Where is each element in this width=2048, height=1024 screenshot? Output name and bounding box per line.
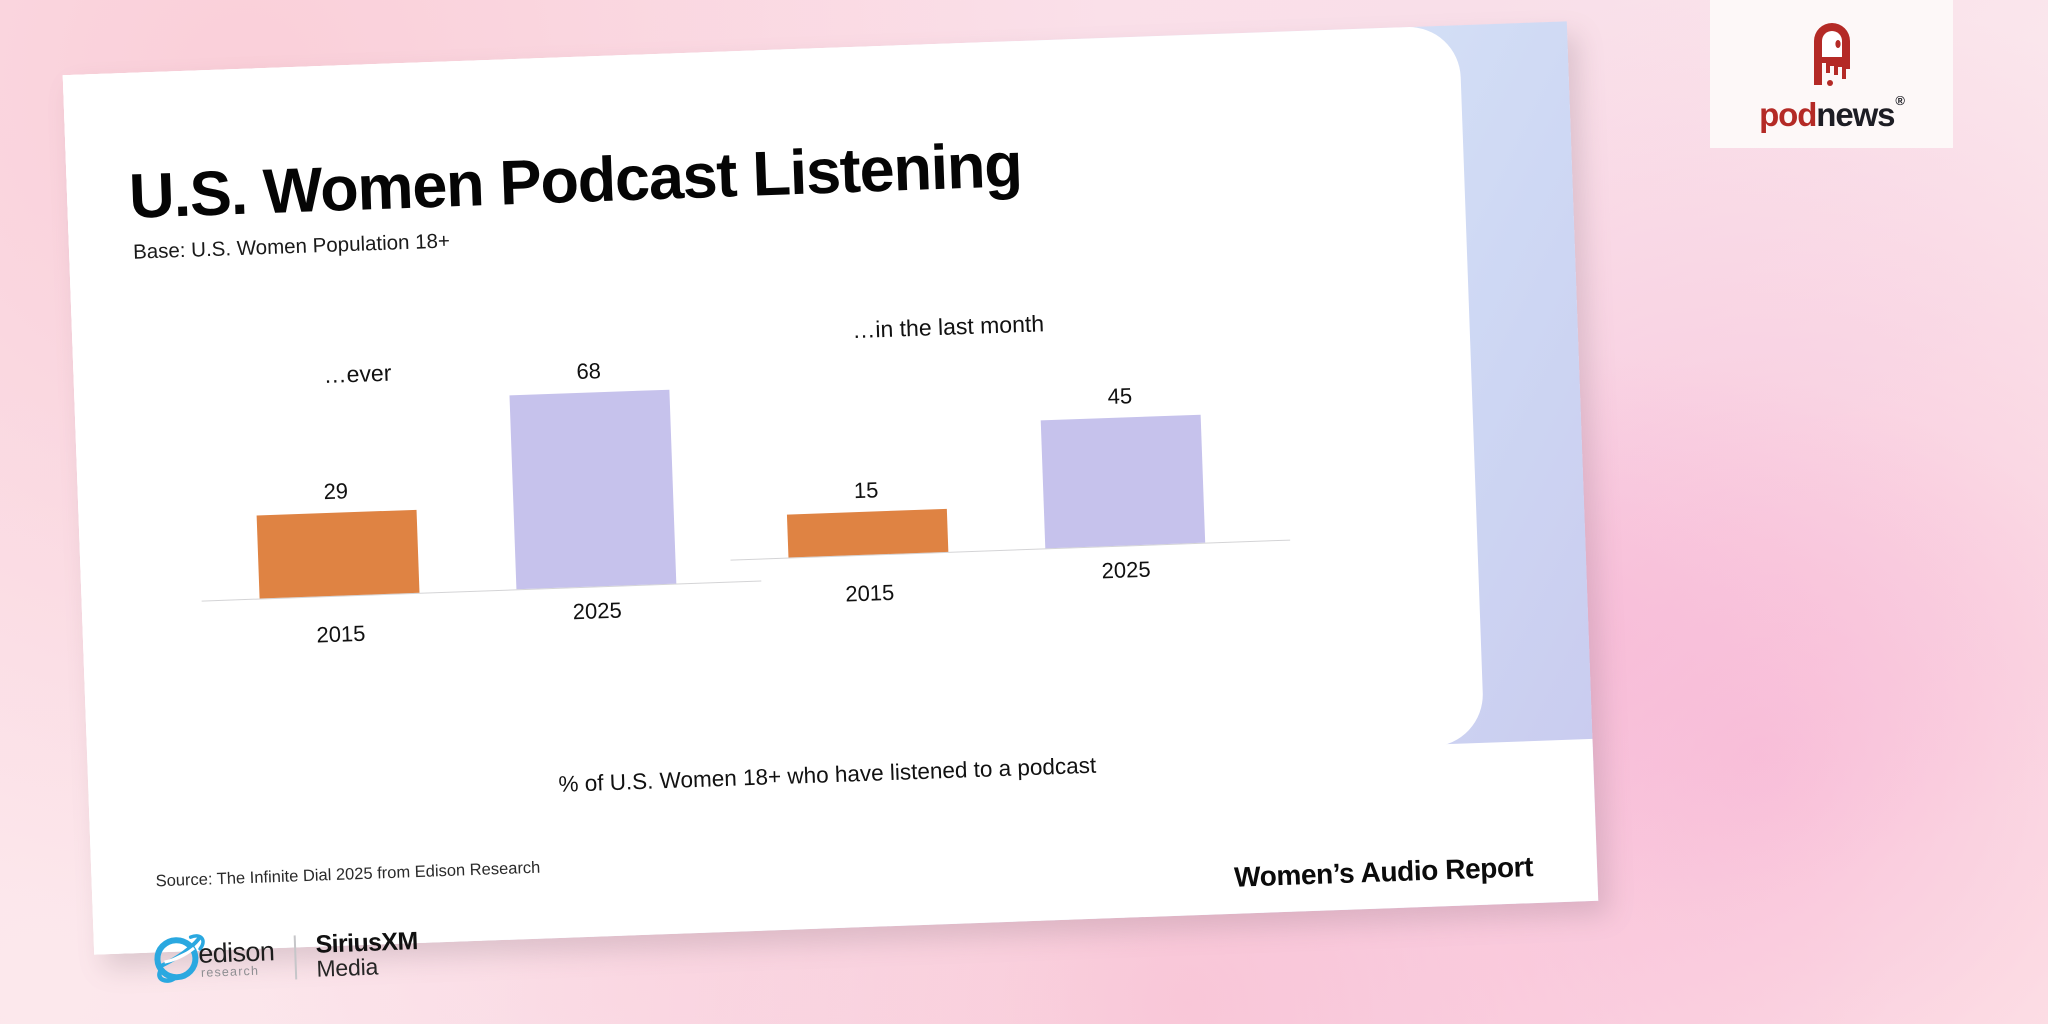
podnews-registered-mark: ® (1895, 94, 1903, 107)
siriusxm-media-word: Media (316, 954, 419, 981)
bar-2015[interactable] (787, 509, 948, 557)
podnews-drip-icon (1801, 17, 1863, 94)
bar-group-2: …in the last month152015452025 (721, 262, 1296, 702)
edison-wordmark: edison research (198, 939, 275, 980)
bar-category-label: 2015 (261, 619, 422, 651)
siriusxm-media-logo: SiriusXM Media (315, 929, 419, 981)
edison-word: edison (198, 939, 275, 968)
bar-group-1: …ever292015682025 (191, 281, 766, 721)
bar-group-label: …ever (323, 360, 392, 389)
podnews-news-text: news (1816, 98, 1894, 131)
bar-2025[interactable] (1041, 414, 1205, 548)
logo-divider (294, 935, 297, 979)
logo-lockup: edison research SiriusXM Media (152, 925, 420, 989)
bar-value-label: 45 (1039, 380, 1200, 412)
bar-chart: …ever292015682025…in the last month15201… (111, 256, 1445, 723)
bar-category-label: 2025 (517, 596, 678, 628)
slide-card: U.S. Women Podcast Listening Base: U.S. … (63, 21, 1599, 954)
podnews-pod-text: pod (1759, 98, 1816, 131)
bar-group-label: …in the last month (852, 310, 1045, 344)
bar-category-label: 2015 (789, 578, 950, 610)
podnews-wordmark: pod news ® (1759, 98, 1904, 131)
bar-value-label: 68 (508, 356, 669, 388)
edison-research-logo: edison research (152, 930, 276, 989)
bar-2015[interactable] (257, 510, 420, 598)
edison-subword: research (201, 965, 275, 980)
bar-2025[interactable] (509, 390, 676, 589)
podnews-logo-badge[interactable]: pod news ® (1710, 0, 1953, 148)
bar-value-label: 15 (786, 475, 947, 507)
bar-value-label: 29 (255, 476, 416, 508)
bar-category-label: 2025 (1046, 555, 1207, 587)
